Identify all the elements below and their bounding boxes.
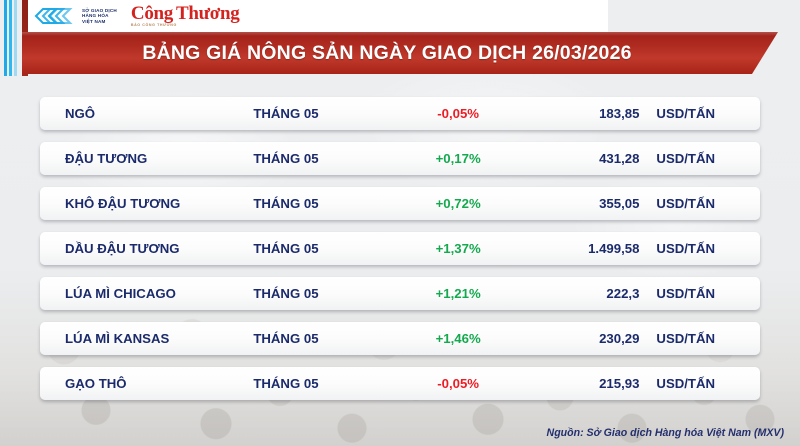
change-percent: +0,72% bbox=[390, 196, 527, 211]
price-unit: USD/TẤN bbox=[639, 331, 760, 346]
change-percent: +1,21% bbox=[390, 286, 527, 301]
source-note: Nguồn: Sở Giao dịch Hàng hóa Việt Nam (M… bbox=[547, 427, 784, 439]
price-unit: USD/TẤN bbox=[639, 106, 760, 121]
left-accent-stripe-1 bbox=[4, 0, 7, 76]
contract-month: THÁNG 05 bbox=[253, 106, 390, 121]
contract-month: THÁNG 05 bbox=[253, 376, 390, 391]
price-value: 215,93 bbox=[526, 376, 639, 391]
price-value: 222,3 bbox=[526, 286, 639, 301]
contract-month: THÁNG 05 bbox=[253, 241, 390, 256]
price-board-infographic: SỞ GIAO DỊCH HÀNG HÓA VIỆT NAM Công Thươ… bbox=[0, 0, 800, 446]
contract-month: THÁNG 05 bbox=[253, 286, 390, 301]
mxv-wave-logo-icon bbox=[32, 5, 78, 27]
table-row[interactable]: DẦU ĐẬU TƯƠNGTHÁNG 05+1,37%1.499,58USD/T… bbox=[40, 232, 760, 265]
price-unit: USD/TẤN bbox=[639, 376, 760, 391]
mxv-logo-text: SỞ GIAO DỊCH HÀNG HÓA VIỆT NAM bbox=[82, 8, 117, 25]
table-row[interactable]: KHÔ ĐẬU TƯƠNGTHÁNG 05+0,72%355,05USD/TẤN bbox=[40, 187, 760, 220]
mxv-logo: SỞ GIAO DỊCH HÀNG HÓA VIỆT NAM bbox=[32, 5, 117, 27]
commodity-name: NGÔ bbox=[40, 106, 253, 121]
price-value: 230,29 bbox=[526, 331, 639, 346]
left-accent-stripe-2 bbox=[9, 0, 12, 76]
logo-bar: SỞ GIAO DỊCH HÀNG HÓA VIỆT NAM Công Thươ… bbox=[28, 0, 608, 32]
contract-month: THÁNG 05 bbox=[253, 151, 390, 166]
table-row[interactable]: LÚA MÌ KANSASTHÁNG 05+1,46%230,29USD/TẤN bbox=[40, 322, 760, 355]
contract-month: THÁNG 05 bbox=[253, 331, 390, 346]
commodity-name: DẦU ĐẬU TƯƠNG bbox=[40, 241, 253, 256]
left-accent-stripe-3 bbox=[14, 0, 17, 76]
table-row[interactable]: ĐẬU TƯƠNGTHÁNG 05+0,17%431,28USD/TẤN bbox=[40, 142, 760, 175]
price-unit: USD/TẤN bbox=[639, 241, 760, 256]
cong-thuong-subtitle: BÁO CÔNG THƯƠNG bbox=[131, 24, 240, 28]
price-value: 1.499,58 bbox=[526, 241, 639, 256]
price-unit: USD/TẤN bbox=[639, 286, 760, 301]
change-percent: -0,05% bbox=[390, 376, 527, 391]
change-percent: +1,37% bbox=[390, 241, 527, 256]
contract-month: THÁNG 05 bbox=[253, 196, 390, 211]
mxv-logo-line-3: VIỆT NAM bbox=[82, 19, 117, 25]
commodity-name: KHÔ ĐẬU TƯƠNG bbox=[40, 196, 253, 211]
banner-highlight bbox=[22, 32, 778, 36]
price-value: 431,28 bbox=[526, 151, 639, 166]
price-value: 355,05 bbox=[526, 196, 639, 211]
page-title: BẢNG GIÁ NÔNG SẢN NGÀY GIAO DỊCH 26/03/2… bbox=[142, 42, 631, 65]
price-unit: USD/TẤN bbox=[639, 151, 760, 166]
commodity-name: LÚA MÌ KANSAS bbox=[40, 331, 253, 346]
price-value: 183,85 bbox=[526, 106, 639, 121]
table-row[interactable]: NGÔTHÁNG 05-0,05%183,85USD/TẤN bbox=[40, 97, 760, 130]
commodity-name: GẠO THÔ bbox=[40, 376, 253, 391]
price-table: NGÔTHÁNG 05-0,05%183,85USD/TẤNĐẬU TƯƠNGT… bbox=[40, 97, 760, 412]
title-banner: BẢNG GIÁ NÔNG SẢN NGÀY GIAO DỊCH 26/03/2… bbox=[22, 32, 778, 74]
change-percent: +1,46% bbox=[390, 331, 527, 346]
change-percent: +0,17% bbox=[390, 151, 527, 166]
table-row[interactable]: GẠO THÔTHÁNG 05-0,05%215,93USD/TẤN bbox=[40, 367, 760, 400]
change-percent: -0,05% bbox=[390, 106, 527, 121]
commodity-name: ĐẬU TƯƠNG bbox=[40, 151, 253, 166]
table-row[interactable]: LÚA MÌ CHICAGOTHÁNG 05+1,21%222,3USD/TẤN bbox=[40, 277, 760, 310]
cong-thuong-logo: Công Thương BÁO CÔNG THƯƠNG bbox=[131, 4, 240, 28]
price-unit: USD/TẤN bbox=[639, 196, 760, 211]
cong-thuong-word-2: Thương bbox=[176, 4, 239, 23]
commodity-name: LÚA MÌ CHICAGO bbox=[40, 286, 253, 301]
cong-thuong-word-1: Công bbox=[131, 4, 173, 23]
